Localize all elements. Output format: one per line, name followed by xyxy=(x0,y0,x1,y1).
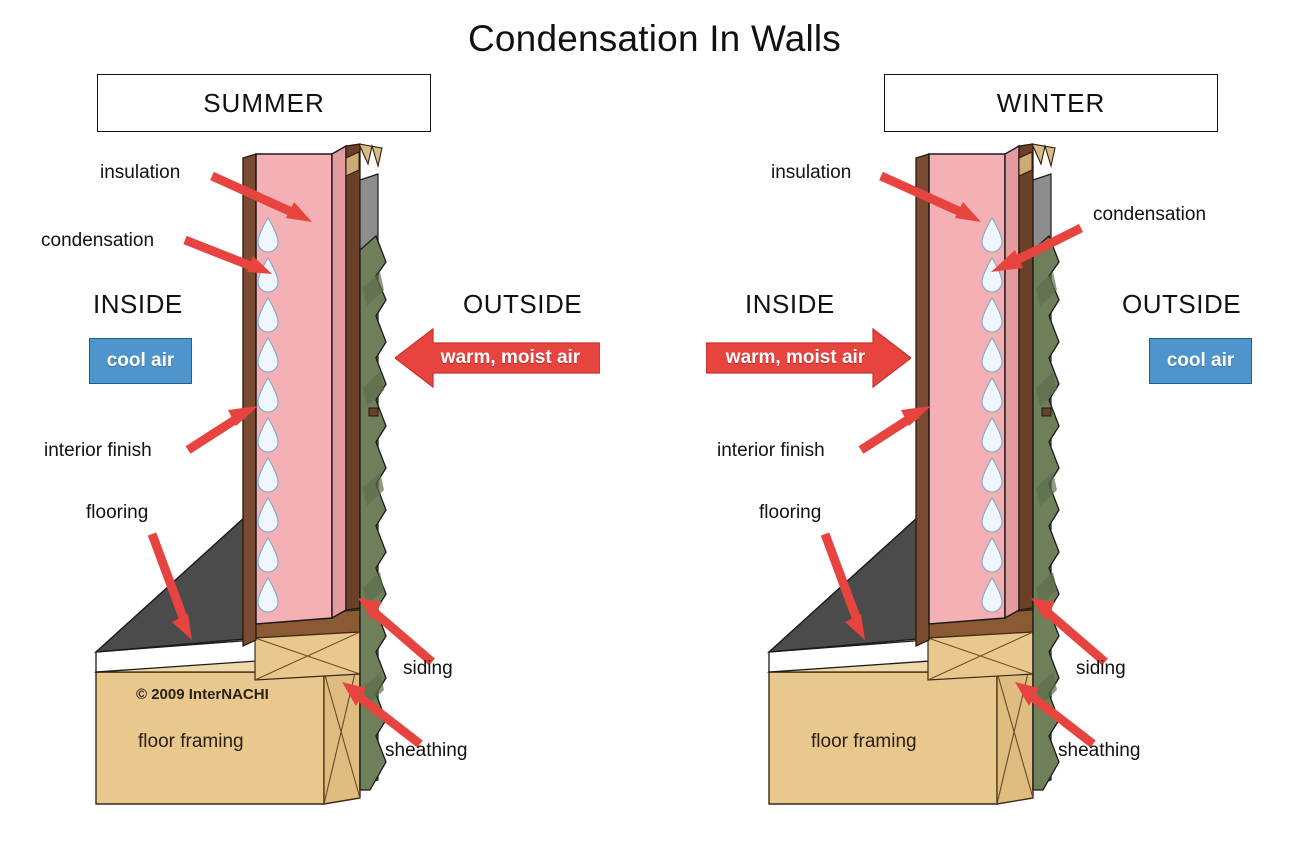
summer-air-arrow: warm, moist air xyxy=(395,325,600,391)
summer-cool-air-badge: cool air xyxy=(89,338,192,384)
summer-label-inside: INSIDE xyxy=(93,289,183,320)
summer-interior-finish xyxy=(243,154,256,646)
winter-label-floor-framing: floor framing xyxy=(811,731,917,753)
winter-interior-finish xyxy=(916,154,929,646)
winter-label-outside: OUTSIDE xyxy=(1122,289,1241,320)
summer-cool-air-label: cool air xyxy=(107,350,175,372)
page-title: Condensation In Walls xyxy=(0,18,1309,60)
season-header-summer: SUMMER xyxy=(97,74,431,132)
season-header-summer-label: SUMMER xyxy=(203,88,325,119)
season-header-winter: WINTER xyxy=(884,74,1218,132)
copyright-notice: © 2009 InterNACHI xyxy=(136,686,269,703)
summer-label-interior-finish: interior finish xyxy=(44,440,152,462)
winter-wall-diagram xyxy=(733,140,1203,820)
winter-label-interior-finish: interior finish xyxy=(717,440,825,462)
summer-label-insulation: insulation xyxy=(100,162,180,184)
winter-cool-air-label: cool air xyxy=(1167,350,1235,372)
summer-label-condensation: condensation xyxy=(41,230,154,252)
summer-label-floor-framing: floor framing xyxy=(138,731,244,753)
season-header-winter-label: WINTER xyxy=(997,88,1106,119)
winter-label-condensation: condensation xyxy=(1093,204,1206,226)
winter-air-arrow: warm, moist air xyxy=(706,325,911,391)
winter-label-sheathing: sheathing xyxy=(1058,740,1140,762)
winter-label-siding: siding xyxy=(1076,658,1126,680)
winter-cool-air-badge: cool air xyxy=(1149,338,1252,384)
winter-label-insulation: insulation xyxy=(771,162,851,184)
winter-label-flooring: flooring xyxy=(759,502,821,524)
summer-label-flooring: flooring xyxy=(86,502,148,524)
winter-label-inside: INSIDE xyxy=(745,289,835,320)
summer-label-siding: siding xyxy=(403,658,453,680)
summer-label-outside: OUTSIDE xyxy=(463,289,582,320)
summer-label-sheathing: sheathing xyxy=(385,740,467,762)
